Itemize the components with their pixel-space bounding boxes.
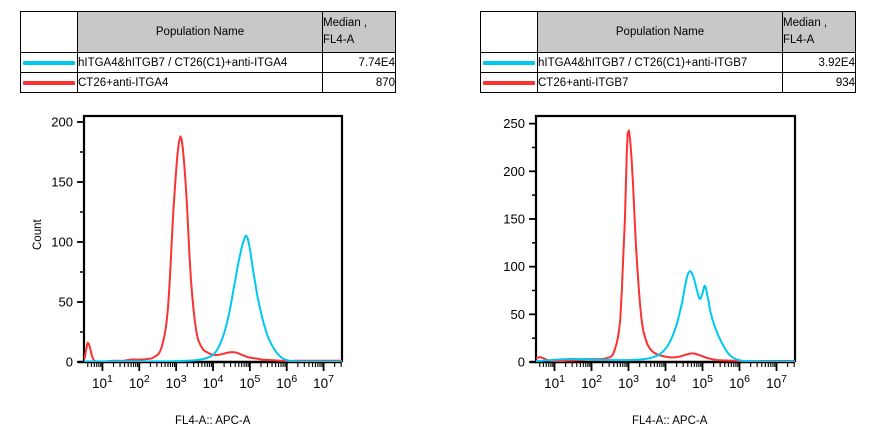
x-tick-label: 103 (166, 373, 187, 391)
y-tick-label: 0 (518, 355, 525, 370)
panel-left-itga4: Population Name Median , FL4-A hITGA4&hI… (0, 0, 434, 442)
legend-population-name: CT26+anti-ITGA4 (78, 73, 323, 93)
legend-color-line (23, 61, 75, 65)
y-tick-label: 50 (59, 295, 73, 310)
x-tick-label: 106 (729, 373, 750, 391)
y-tick-label: 150 (51, 175, 73, 190)
legend-header-median: Median , FL4-A (783, 12, 856, 53)
legend-swatch-red (21, 73, 78, 93)
x-tick-label: 102 (581, 373, 602, 391)
x-tick-label: 106 (276, 373, 297, 391)
legend-color-line (483, 61, 535, 65)
x-tick-exponent: 5 (707, 373, 713, 385)
histogram-curve (84, 236, 341, 362)
legend-population-name: hITGA4&hITGB7 / CT26(C1)+anti-ITGB7 (538, 53, 783, 73)
x-tick-label: 101 (544, 373, 565, 391)
x-tick-label: 105 (239, 373, 260, 391)
legend-header-population-name: Population Name (78, 12, 323, 53)
x-axis-title: FL4-A:: APC-A (175, 415, 250, 427)
x-tick-exponent: 5 (254, 373, 260, 385)
plot-frame (84, 116, 342, 362)
y-tick-label: 200 (503, 164, 525, 179)
legend-median-value: 3.92E4 (783, 53, 856, 73)
y-axis-title: Count (32, 219, 44, 250)
x-tick-label: 102 (129, 373, 150, 391)
y-tick-label: 0 (66, 355, 73, 370)
histogram-plot-right: 050100150200250101102103104105106107 (434, 108, 868, 442)
x-tick-label: 103 (618, 373, 639, 391)
y-tick-label: 50 (511, 307, 525, 322)
histogram-svg-left: 050100150200101102103104105106107 (0, 108, 434, 442)
x-tick-exponent: 7 (781, 373, 787, 385)
table-row: hITGA4&hITGB7 / CT26(C1)+anti-ITGB7 3.92… (481, 53, 856, 73)
x-tick-exponent: 4 (218, 373, 224, 385)
x-tick-label: 104 (655, 373, 676, 391)
legend-header-median-line2: FL4-A (783, 32, 855, 49)
x-tick-exponent: 3 (181, 373, 187, 385)
legend-population-name: hITGA4&hITGB7 / CT26(C1)+anti-ITGA4 (78, 53, 323, 73)
legend-header-swatch (21, 12, 78, 53)
y-tick-label: 200 (51, 115, 73, 130)
y-tick-label: 100 (51, 235, 73, 250)
legend-header-population-name: Population Name (538, 12, 783, 53)
x-tick-label: 104 (203, 373, 224, 391)
x-tick-exponent: 1 (559, 373, 565, 385)
x-tick-exponent: 2 (596, 373, 602, 385)
plot-frame (536, 116, 795, 362)
x-tick-exponent: 6 (291, 373, 297, 385)
y-tick-label: 250 (503, 116, 525, 131)
legend-header-swatch (481, 12, 538, 53)
histogram-plot-left: 050100150200101102103104105106107 (0, 108, 434, 442)
x-tick-label: 107 (313, 373, 334, 391)
legend-header-median-line1: Median , (323, 15, 395, 32)
legend-header-median-line2: FL4-A (323, 32, 395, 49)
legend-color-line (483, 81, 535, 85)
legend-header-median: Median , FL4-A (323, 12, 396, 53)
x-axis-title: FL4-A:: APC-A (632, 415, 707, 427)
x-tick-label: 101 (92, 373, 113, 391)
histogram-curve (536, 131, 794, 362)
legend-color-line (23, 81, 75, 85)
legend-median-value: 870 (323, 73, 396, 93)
table-row: CT26+anti-ITGA4 870 (21, 73, 396, 93)
histogram-svg-right: 050100150200250101102103104105106107 (434, 108, 868, 442)
panel-right-itgb7: Population Name Median , FL4-A hITGA4&hI… (434, 0, 868, 442)
legend-swatch-cyan (481, 53, 538, 73)
legend-header-median-line1: Median , (783, 15, 855, 32)
legend-swatch-cyan (21, 53, 78, 73)
histogram-curve (536, 271, 794, 361)
x-tick-exponent: 7 (328, 373, 334, 385)
x-tick-exponent: 2 (144, 373, 150, 385)
legend-table-left: Population Name Median , FL4-A hITGA4&hI… (20, 11, 396, 93)
legend-header-row: Population Name Median , FL4-A (481, 12, 856, 53)
y-tick-label: 100 (503, 259, 525, 274)
legend-table-right: Population Name Median , FL4-A hITGA4&hI… (480, 11, 856, 93)
legend-header-row: Population Name Median , FL4-A (21, 12, 396, 53)
x-tick-exponent: 3 (633, 373, 639, 385)
table-row: CT26+anti-ITGB7 934 (481, 73, 856, 93)
legend-population-name: CT26+anti-ITGB7 (538, 73, 783, 93)
legend-median-value: 7.74E4 (323, 53, 396, 73)
legend-swatch-red (481, 73, 538, 93)
legend-median-value: 934 (783, 73, 856, 93)
x-tick-label: 107 (766, 373, 787, 391)
table-row: hITGA4&hITGB7 / CT26(C1)+anti-ITGA4 7.74… (21, 53, 396, 73)
histogram-curve (84, 136, 341, 361)
x-tick-exponent: 6 (744, 373, 750, 385)
x-tick-exponent: 1 (107, 373, 113, 385)
x-tick-label: 105 (692, 373, 713, 391)
x-tick-exponent: 4 (670, 373, 676, 385)
y-tick-label: 150 (503, 211, 525, 226)
